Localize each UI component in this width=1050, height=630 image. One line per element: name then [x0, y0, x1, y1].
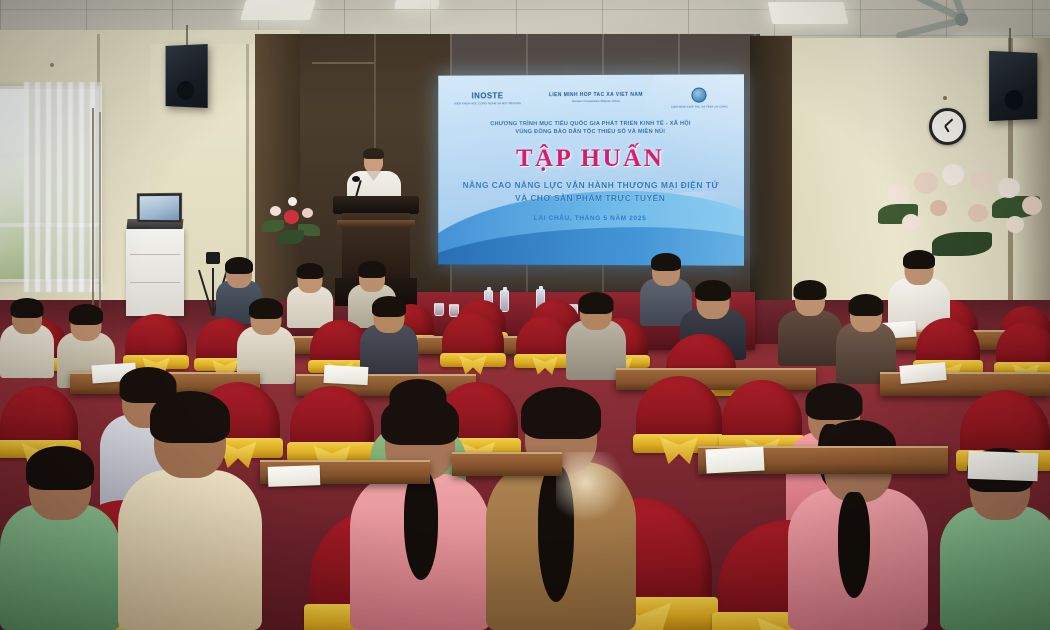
audience-person-foreground [0, 450, 120, 630]
screen-place-date: LAI CHÂU, THÁNG 5 NĂM 2025 [438, 215, 744, 223]
wall-speaker-right [989, 51, 1037, 121]
screen-subtitle: NÂNG CAO NĂNG LỰC VẬN HÀNH THƯƠNG MẠI ĐI… [438, 179, 744, 206]
paper-sheet [968, 451, 1039, 481]
wall-fixture [50, 63, 54, 67]
chair [442, 312, 504, 376]
screen-headline: TẬP HUẤN [438, 145, 744, 173]
ceiling-fan-icon [905, 0, 1035, 40]
paper-sheet [324, 365, 369, 385]
audience-person [778, 282, 842, 366]
speaker-wire [1009, 28, 1011, 54]
desk [452, 452, 562, 476]
audience-person [360, 298, 418, 382]
paper-sheet [705, 446, 764, 473]
emblem-icon [692, 87, 707, 102]
conference-hall-photo: INOSTE VIEN KHOA HOC CONG NGHE VA MOI TR… [0, 0, 1050, 630]
ceiling-light-panel [767, 2, 848, 24]
wall-fixture [943, 96, 947, 100]
logo-vca: LIEN MINH HOP TAC XA VIET NAM Vietnam Co… [549, 93, 643, 103]
ceiling-light-panel [394, 0, 440, 9]
wall-cable [99, 112, 101, 308]
program-title: CHƯƠNG TRÌNH MỤC TIÊU QUỐC GIA PHÁT TRIỂ… [438, 120, 744, 137]
audience-person-foreground [118, 396, 262, 630]
wood-seam [312, 62, 374, 64]
wall-clock-icon [929, 108, 966, 145]
laptop [137, 193, 182, 224]
jacket-print [556, 452, 630, 528]
ceiling-light-panel [240, 0, 316, 20]
wall-cable [92, 108, 94, 308]
equipment-cabinet [126, 228, 184, 316]
audience-person [0, 300, 54, 378]
flower-arrangement-left [258, 196, 326, 250]
projection-screen: INOSTE VIEN KHOA HOC CONG NGHE VA MOI TR… [438, 74, 744, 265]
speaker-wire [186, 25, 188, 47]
paper-sheet [268, 465, 321, 487]
logo-laichau: LIEN MINH HOP TAC XA TINH LAI CHAU [671, 87, 728, 108]
hair-ponytail [838, 492, 870, 598]
hair-ponytail [404, 470, 438, 580]
wall-speaker-left [166, 44, 208, 108]
screen-logo-row: INOSTE VIEN KHOA HOC CONG NGHE VA MOI TR… [438, 82, 744, 113]
wall-seam [246, 44, 249, 294]
microphone-icon [352, 176, 360, 182]
logo-inoste: INOSTE VIEN KHOA HOC CONG NGHE VA MOI TR… [454, 92, 521, 105]
window-curtain [24, 82, 102, 292]
audience-person [836, 296, 896, 384]
